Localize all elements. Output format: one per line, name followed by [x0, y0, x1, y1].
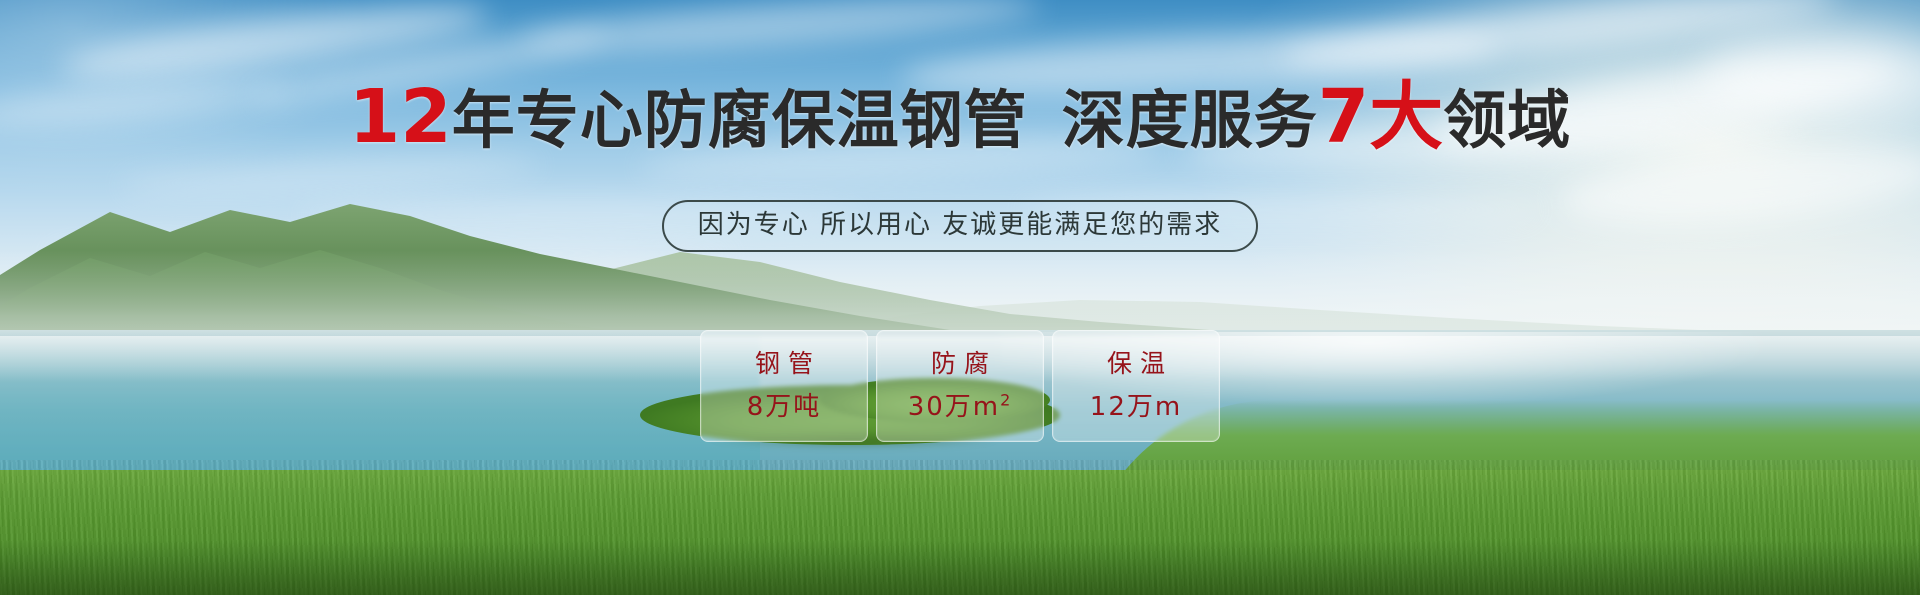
stat-card-insulation[interactable]: 保温 12万m [1052, 330, 1220, 442]
stat-card-title: 防腐 [923, 351, 997, 377]
headline-part3: 领域 [1443, 84, 1571, 157]
stats-card-group: 钢管 8万吨 防腐 30万m2 保温 12万m [0, 330, 1920, 442]
stat-card-steel-pipe[interactable]: 钢管 8万吨 [700, 330, 868, 442]
banner-content: 12年专心防腐保温钢管深度服务7大领域 因为专心 所以用心 友诚更能满足您的需求… [0, 0, 1920, 595]
stat-card-title: 钢管 [747, 351, 821, 377]
subtitle-container: 因为专心 所以用心 友诚更能满足您的需求 [0, 200, 1920, 252]
stat-card-value-text: 30万m [908, 392, 1000, 422]
headline-years-number: 12 [349, 74, 452, 160]
subtitle-pill: 因为专心 所以用心 友诚更能满足您的需求 [662, 200, 1259, 252]
headline-fields-unit: 大 [1369, 74, 1443, 160]
stat-card-title: 保温 [1099, 351, 1173, 377]
stat-card-value: 30万m2 [908, 393, 1013, 421]
hero-banner: 12年专心防腐保温钢管深度服务7大领域 因为专心 所以用心 友诚更能满足您的需求… [0, 0, 1920, 595]
headline: 12年专心防腐保温钢管深度服务7大领域 [0, 83, 1920, 155]
stat-card-value: 12万m [1090, 393, 1182, 421]
stat-card-value-superscript: 2 [1000, 390, 1012, 409]
headline-fields-number: 7 [1318, 74, 1370, 160]
stat-card-value: 8万吨 [747, 393, 822, 421]
headline-part1: 年专心防腐保温钢管 [452, 84, 1028, 157]
stat-card-anticorrosion[interactable]: 防腐 30万m2 [876, 330, 1044, 442]
headline-part2: 深度服务 [1062, 84, 1318, 157]
